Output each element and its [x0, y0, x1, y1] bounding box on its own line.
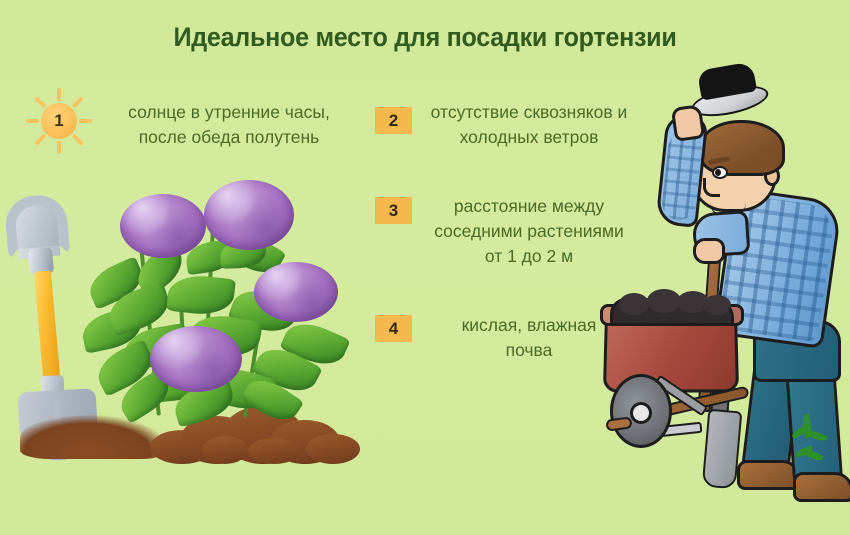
- hair: [699, 120, 785, 176]
- hydrangea-bloom: [204, 180, 294, 250]
- boot-front: [793, 472, 850, 502]
- item-1-text: солнце в утренние часы, после обеда полу…: [98, 100, 360, 150]
- wheelbarrow-soil-load: [610, 298, 734, 326]
- spade-shaft: [34, 270, 61, 381]
- hydrangea-bloom: [120, 194, 206, 258]
- item-1-number: 1: [41, 103, 77, 139]
- item-2-number: 2: [389, 111, 398, 131]
- page-title: Идеальное место для посадки гортензии: [30, 22, 821, 53]
- hydrangea-bloom: [150, 326, 242, 392]
- wheelbarrow-illustration: [596, 290, 786, 470]
- item-4-number: 4: [389, 319, 398, 339]
- sun-icon: 1: [22, 84, 96, 158]
- wheelbarrow-wheel-hub: [630, 402, 652, 424]
- infographic-canvas: Идеальное место для посадки гортензии 1 …: [0, 0, 850, 535]
- grass-sprout-icon: [789, 414, 829, 470]
- item-3-number: 3: [389, 201, 398, 221]
- hand-raised: [671, 104, 705, 142]
- pupil: [715, 169, 721, 176]
- hydrangea-bloom: [254, 262, 338, 322]
- nose: [703, 178, 720, 197]
- hand-leaning: [693, 238, 725, 264]
- hydrangea-bush-illustration: [78, 180, 368, 428]
